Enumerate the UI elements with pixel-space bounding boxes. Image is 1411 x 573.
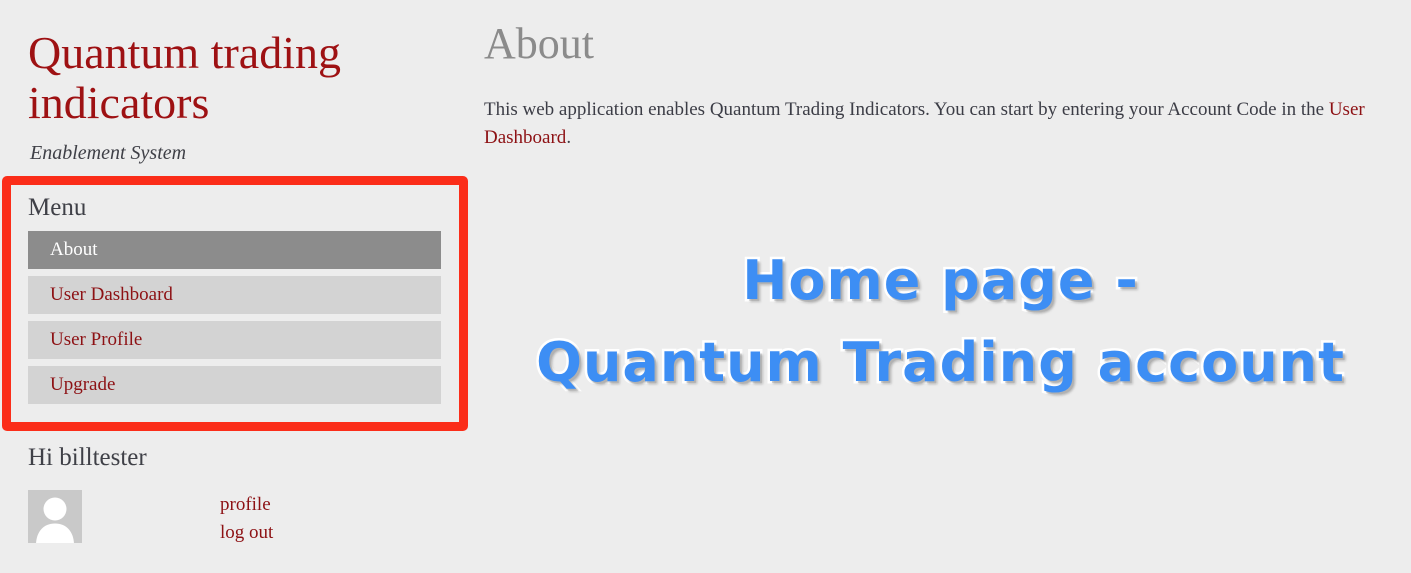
- menu-item-user-dashboard[interactable]: User Dashboard: [28, 276, 441, 314]
- page-title: About: [484, 18, 594, 70]
- sidebar: Quantum trading indicators Enablement Sy…: [0, 0, 470, 573]
- about-paragraph-text-after: .: [566, 127, 571, 148]
- annotation-line-2: Quantum Trading account: [470, 322, 1411, 404]
- menu-block: Menu About User Dashboard User Profile U…: [28, 192, 441, 411]
- menu-heading: Menu: [28, 192, 441, 231]
- user-links: profile log out: [220, 491, 273, 547]
- page-root: Quantum trading indicators Enablement Sy…: [0, 0, 1411, 573]
- user-greeting: Hi billtester: [28, 444, 147, 472]
- brand-subtitle: Enablement System: [30, 142, 186, 165]
- profile-link[interactable]: profile: [220, 491, 273, 519]
- menu-item-user-profile[interactable]: User Profile: [28, 321, 441, 359]
- annotation-line-1: Home page -: [470, 240, 1411, 322]
- menu-item-upgrade[interactable]: Upgrade: [28, 366, 441, 404]
- about-paragraph: This web application enables Quantum Tra…: [484, 96, 1402, 152]
- menu-list: About User Dashboard User Profile Upgrad…: [28, 231, 441, 404]
- about-paragraph-text-before: This web application enables Quantum Tra…: [484, 99, 1329, 120]
- menu-item-about[interactable]: About: [28, 231, 441, 269]
- main-content: About This web application enables Quant…: [470, 0, 1411, 573]
- screenshot-annotation-text: Home page - Quantum Trading account: [470, 240, 1411, 404]
- user-avatar-placeholder-icon: [28, 490, 82, 543]
- log-out-link[interactable]: log out: [220, 519, 273, 547]
- brand-title: Quantum trading indicators: [28, 28, 448, 128]
